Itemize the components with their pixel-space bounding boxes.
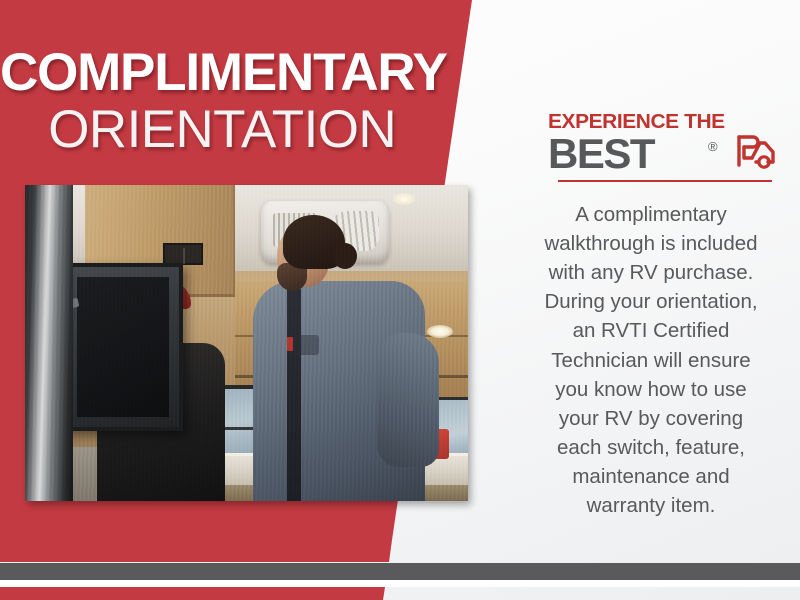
bottom-white-band	[0, 580, 800, 587]
registered-trademark-icon: ®	[708, 139, 718, 154]
body-copy-text: A complimentarywalkthrough is includedwi…	[512, 200, 790, 520]
rv-motorhome-icon	[734, 131, 778, 176]
logo-wordmark: BEST	[548, 133, 654, 175]
logo-wordmark-row: BEST ®	[548, 135, 784, 175]
body-copy: A complimentarywalkthrough is includedwi…	[512, 200, 790, 520]
bottom-red-band-lower	[0, 587, 400, 600]
complimentary-orientation-ad: COMPLIMENTARY ORIENTATION	[0, 0, 800, 600]
bottom-red-band-upper	[0, 540, 400, 562]
logo-divider-rule	[558, 180, 772, 182]
experience-the-best-logo: EXPERIENCE THE BEST ®	[548, 112, 784, 175]
photo-content	[25, 185, 468, 501]
photo-grain-overlay	[25, 185, 468, 501]
orientation-photo	[25, 185, 468, 501]
page-title: COMPLIMENTARY ORIENTATION	[0, 46, 430, 158]
bottom-gray-band	[0, 563, 800, 580]
headline-line-1: COMPLIMENTARY	[0, 46, 418, 100]
headline-line-2: ORIENTATION	[0, 102, 418, 158]
